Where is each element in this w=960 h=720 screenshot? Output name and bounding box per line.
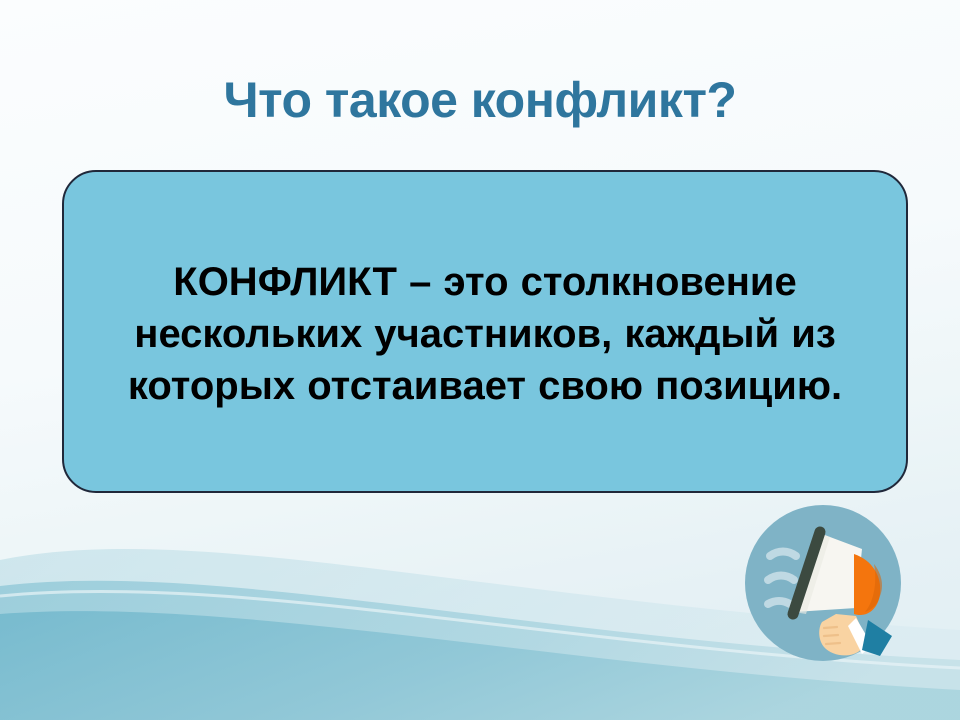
slide-canvas: Что такое конфликт? КОНФЛИКТ – это столк… [0,0,960,720]
megaphone-icon [744,504,902,662]
slide-title: Что такое конфликт? [60,74,900,127]
definition-callout-box: КОНФЛИКТ – это столкновение нескольких у… [62,170,908,493]
definition-text: КОНФЛИКТ – это столкновение нескольких у… [105,252,865,412]
